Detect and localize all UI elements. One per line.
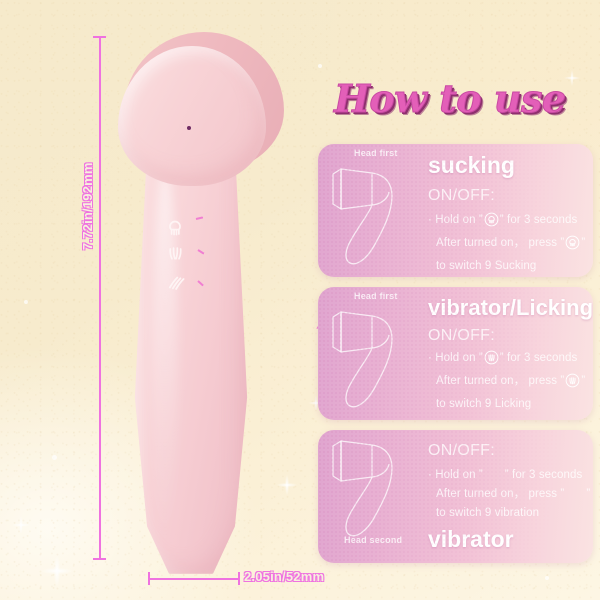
product-image xyxy=(92,28,302,573)
card-art-label: Head first xyxy=(354,291,398,301)
card-instruction-lines: · Hold on ”” for 3 seconds After turned … xyxy=(428,211,588,276)
instruction-card-sucking: Head first sucking ON/OFF: · Hold on ”” … xyxy=(318,144,593,277)
card-art-label: Head second xyxy=(344,535,402,545)
line-prefix: · Hold on ” xyxy=(428,214,483,226)
width-dimension-cap-right xyxy=(238,572,240,585)
line-suffix: ” xyxy=(581,237,585,249)
licking-icon xyxy=(166,244,185,268)
sucking-icon xyxy=(164,217,186,244)
instruction-line: · Hold on ”” for 3 seconds xyxy=(428,466,588,485)
product-handle xyxy=(130,148,252,578)
instruction-line: After turned on， press ”” xyxy=(428,234,588,257)
instruction-line: to switch 9 Sucking xyxy=(428,257,588,276)
sucking-icon xyxy=(565,235,580,257)
line-prefix: · Hold on ” xyxy=(428,352,483,364)
sparkle-dot-icon xyxy=(52,455,57,460)
line-prefix: to switch 9 Sucking xyxy=(436,260,536,272)
card-title-vibrator: vibrator xyxy=(428,526,514,553)
device-outline-illustration xyxy=(328,295,424,413)
instruction-line: to switch 9 Licking xyxy=(428,395,588,414)
line-suffix: ” for 3 seconds xyxy=(500,214,578,226)
licking-icon xyxy=(484,350,499,372)
line-prefix: to switch 9 vibration xyxy=(436,507,539,519)
card-onoff-label: ON/OFF: xyxy=(428,442,495,460)
line-suffix: ” for 3 seconds xyxy=(505,469,583,481)
vibration-icon xyxy=(166,273,186,298)
instruction-line: After turned on， press ”” xyxy=(428,485,588,504)
instruction-line: · Hold on ”” for 3 seconds xyxy=(428,211,588,234)
card-onoff-label: ON/OFF: xyxy=(428,327,495,345)
line-prefix: After turned on， press ” xyxy=(436,237,564,249)
card-instruction-lines: · Hold on ”” for 3 seconds After turned … xyxy=(428,466,588,523)
line-suffix: ” for 3 seconds xyxy=(500,352,578,364)
line-suffix: ” xyxy=(586,488,590,500)
width-dimension-line xyxy=(148,578,240,580)
line-prefix: After turned on， press ” xyxy=(436,488,564,500)
card-title-vibrator-licking: vibrator/Licking xyxy=(428,295,593,321)
licking-icon xyxy=(565,373,580,395)
infographic-canvas: 7.72in/192mm 2.05in/52mm xyxy=(0,0,600,600)
card-title-sucking: sucking xyxy=(428,152,515,179)
line-suffix: ” xyxy=(581,375,585,387)
line-prefix: · Hold on ” xyxy=(428,469,483,481)
line-prefix: After turned on， press ” xyxy=(436,375,564,387)
sparkle-dot-icon xyxy=(318,64,322,68)
product-air-hole xyxy=(187,126,191,130)
card-art-label: Head first xyxy=(354,148,398,158)
instruction-card-vibrator: Head second vibrator ON/OFF: · Hold on ”… xyxy=(318,430,593,563)
sparkle-dot-icon xyxy=(545,576,549,580)
page-title: How to use xyxy=(334,76,566,121)
sparkle-dot-icon xyxy=(24,300,28,304)
instruction-line: · Hold on ”” for 3 seconds xyxy=(428,349,588,372)
card-instruction-lines: · Hold on ”” for 3 seconds After turned … xyxy=(428,349,588,414)
sparkle-icon xyxy=(34,548,80,594)
instruction-line: to switch 9 vibration xyxy=(428,504,588,523)
device-outline-illustration xyxy=(328,152,424,270)
line-prefix: to switch 9 Licking xyxy=(436,398,531,410)
instruction-card-vibrator-licking: Head first vibrator/Licking ON/OFF: · Ho… xyxy=(318,287,593,420)
instruction-line: After turned on， press ”” xyxy=(428,372,588,395)
sucking-icon xyxy=(484,212,499,234)
sparkle-icon xyxy=(8,512,34,538)
width-dimension-cap-left xyxy=(148,572,150,585)
card-onoff-label: ON/OFF: xyxy=(428,187,495,205)
